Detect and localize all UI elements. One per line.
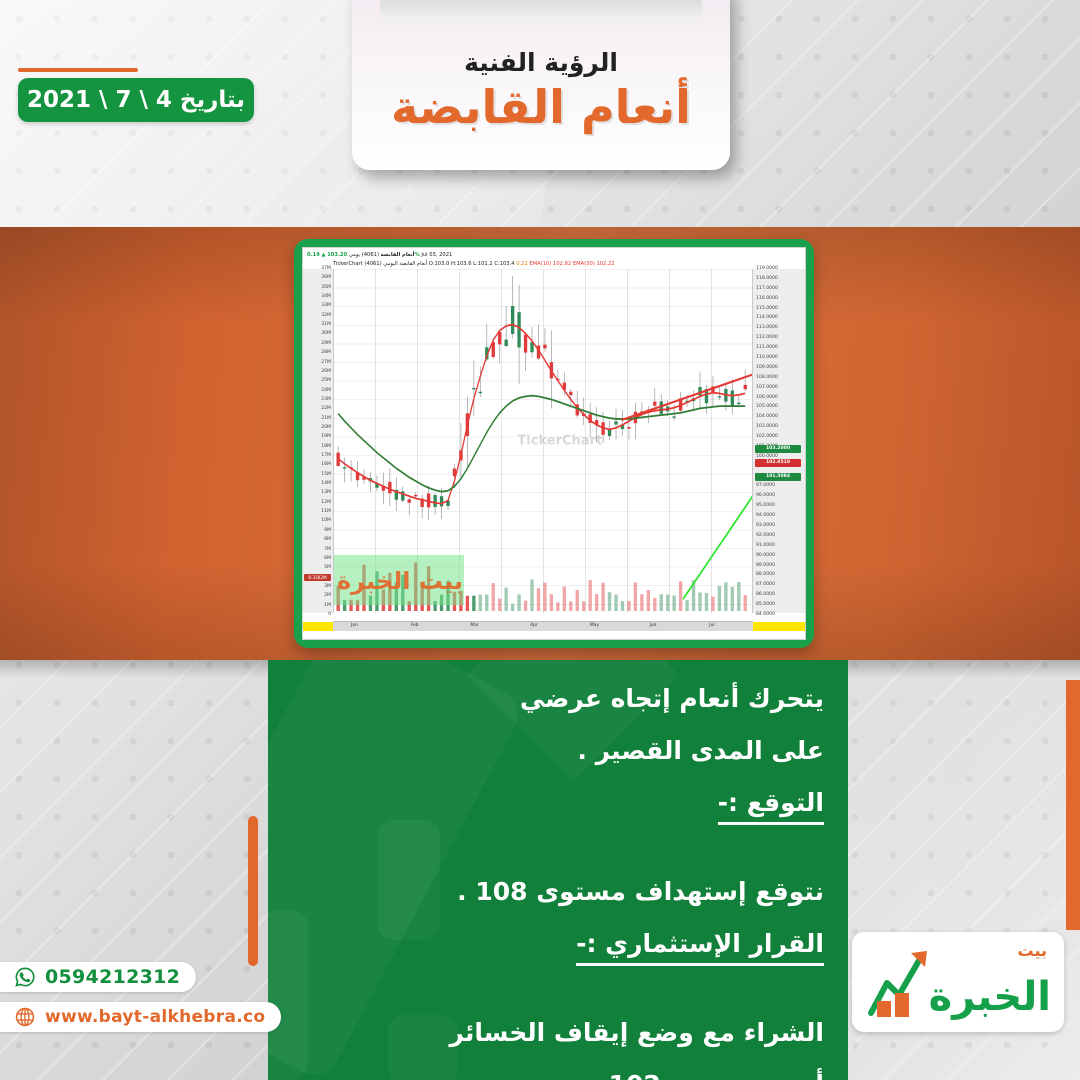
volume-tick: 7M bbox=[324, 548, 331, 553]
poster: الرؤية الفنية أنعام القابضة بتاريخ 4 \ 7… bbox=[0, 0, 1080, 1080]
chart-watermark-en: TickerChart bbox=[517, 434, 602, 449]
volume-tick: 26M bbox=[321, 370, 331, 375]
chart-header-line-1: أنعام القابضة (4061) يومي 103.20 ▲ 0.19%… bbox=[307, 251, 801, 259]
candle-body bbox=[472, 388, 475, 389]
time-tick: Feb bbox=[411, 623, 419, 628]
volume-tick: 37M bbox=[321, 267, 331, 272]
price-tick: 119.0000 bbox=[756, 267, 778, 272]
candle-body bbox=[718, 396, 721, 397]
candle-body bbox=[627, 427, 630, 429]
volume-bar bbox=[588, 580, 591, 611]
volume-bar bbox=[679, 581, 682, 611]
price-tick: 96.0000 bbox=[756, 494, 775, 499]
volume-bar bbox=[640, 594, 643, 611]
time-tick: May bbox=[590, 623, 599, 628]
volume-bar bbox=[595, 594, 598, 611]
volume-tick: 17M bbox=[321, 454, 331, 459]
volume-bar bbox=[466, 596, 469, 611]
volume-bar bbox=[498, 599, 501, 611]
volume-tick: 27M bbox=[321, 361, 331, 366]
price-tick: 105.0000 bbox=[756, 405, 778, 410]
analysis-line-wrap: على المدى القصير . bbox=[292, 738, 824, 763]
price-tick: 85.0000 bbox=[756, 603, 775, 608]
brand-logo-main-text: الخبرة bbox=[929, 977, 1051, 1017]
candle-body bbox=[653, 402, 656, 406]
price-tick: 103.0000 bbox=[756, 425, 778, 430]
chart-symbol-ar: أنعام القابضة bbox=[381, 252, 415, 258]
price-tick: 114.0000 bbox=[756, 316, 778, 321]
date-badge: بتاريخ 4 \ 7 \ 2021 bbox=[18, 78, 254, 122]
price-tick: 92.0000 bbox=[756, 534, 775, 539]
price-tick: 91.0000 bbox=[756, 544, 775, 549]
volume-tick: 25M bbox=[321, 379, 331, 384]
analysis-line-wrap: التوقع :- bbox=[292, 790, 824, 852]
volume-bar bbox=[563, 586, 566, 611]
website-pill[interactable]: www.bayt-alkhebra.co bbox=[0, 1002, 281, 1032]
candle-body bbox=[504, 340, 507, 346]
volume-tick: 18M bbox=[321, 445, 331, 450]
candle-body bbox=[343, 467, 346, 468]
candle-body bbox=[517, 312, 520, 347]
volume-tick: 23M bbox=[321, 398, 331, 403]
price-tick: 118.0000 bbox=[756, 277, 778, 282]
analysis-line-wrap: نتوقع إستهداف مستوى 108 . bbox=[292, 879, 824, 904]
time-tick: Jun bbox=[650, 623, 657, 628]
volume-value-tag: 8.3382M bbox=[304, 574, 331, 581]
candle-body bbox=[433, 495, 436, 507]
volume-tick: 10M bbox=[321, 519, 331, 524]
volume-tick: 28M bbox=[321, 351, 331, 356]
price-tick: 107.0000 bbox=[756, 386, 778, 391]
volume-tick: 8M bbox=[324, 538, 331, 543]
volume-bar bbox=[698, 592, 701, 611]
ema10-line bbox=[338, 324, 745, 503]
price-tick: 117.0000 bbox=[756, 287, 778, 292]
analysis-panel: يتحرك أنعام إتجاه عرضيعلى المدى القصير .… bbox=[268, 660, 848, 1080]
candle-body bbox=[388, 482, 391, 494]
volume-bar bbox=[705, 593, 708, 611]
price-tick: 110.0000 bbox=[756, 356, 778, 361]
volume-bar bbox=[672, 596, 675, 611]
chart-watermark-ar: بيت الخبرة bbox=[337, 559, 463, 603]
volume-bar bbox=[744, 595, 747, 611]
volume-bar bbox=[621, 601, 624, 611]
volume-tick: 15M bbox=[321, 473, 331, 478]
volume-bar bbox=[517, 594, 520, 611]
price-tick: 93.0000 bbox=[756, 524, 775, 529]
volume-bar bbox=[724, 582, 727, 611]
chart-series-code: (4061) bbox=[364, 261, 381, 267]
analysis-text-block: يتحرك أنعام إتجاه عرضيعلى المدى القصير .… bbox=[292, 686, 824, 1080]
analysis-line-wrap: القرار الإستثماري :- bbox=[292, 931, 824, 993]
chart-last-price: 103.20 bbox=[327, 252, 347, 258]
candle-body bbox=[543, 345, 546, 349]
price-tick: 112.0000 bbox=[756, 336, 778, 341]
volume-tick: 14M bbox=[321, 482, 331, 487]
chart-inner: أنعام القابضة (4061) يومي 103.20 ▲ 0.19%… bbox=[302, 247, 806, 640]
time-tick: Jan bbox=[351, 623, 358, 628]
whatsapp-icon bbox=[14, 966, 36, 988]
price-tag: 101.5084 bbox=[755, 473, 801, 481]
analysis-line: يتحرك أنعام إتجاه عرضي bbox=[292, 686, 824, 711]
support-trendline bbox=[683, 496, 753, 599]
brand-logo-small-text: بيت bbox=[1018, 943, 1047, 959]
volume-tick: 0 bbox=[328, 613, 331, 618]
whatsapp-pill[interactable]: 0594212312 bbox=[0, 962, 196, 992]
volume-tick: 19M bbox=[321, 435, 331, 440]
volume-tick: 21M bbox=[321, 417, 331, 422]
volume-bar bbox=[524, 601, 527, 611]
volume-bar bbox=[576, 590, 579, 611]
price-tick: 94.0000 bbox=[756, 514, 775, 519]
price-tick: 95.0000 bbox=[756, 504, 775, 509]
price-tick: 113.0000 bbox=[756, 326, 778, 331]
volume-tick: 2M bbox=[324, 594, 331, 599]
price-tick: 115.0000 bbox=[756, 307, 778, 312]
volume-bar bbox=[711, 597, 714, 611]
analysis-line: على المدى القصير . bbox=[292, 738, 824, 763]
axis-corner-left bbox=[303, 622, 333, 631]
candle-body bbox=[498, 332, 501, 345]
volume-tick: 29M bbox=[321, 342, 331, 347]
title-card: الرؤية الفنية أنعام القابضة bbox=[352, 0, 730, 170]
volume-axis: 37M36M35M34M33M32M31M30M29M28M27M26M25M2… bbox=[303, 269, 334, 613]
volume-bar bbox=[731, 587, 734, 611]
chart-symbol-code: (4061) bbox=[362, 252, 379, 258]
candle-body bbox=[511, 306, 514, 334]
analysis-line-wrap: أدنى مستوى 102 . bbox=[292, 1072, 824, 1080]
analysis-line: التوقع :- bbox=[718, 790, 824, 825]
chart-timeframe: يومي bbox=[349, 252, 360, 258]
analysis-line: أدنى مستوى 102 . bbox=[292, 1072, 824, 1080]
volume-bar bbox=[647, 590, 650, 611]
volume-bar bbox=[492, 583, 495, 611]
volume-bar bbox=[537, 588, 540, 611]
price-tick: 106.0000 bbox=[756, 396, 778, 401]
volume-tick: 34M bbox=[321, 295, 331, 300]
candle-body bbox=[614, 421, 617, 424]
price-tick: 89.0000 bbox=[756, 564, 775, 569]
price-axis: 119.0000118.0000117.0000116.0000115.0000… bbox=[752, 269, 805, 613]
chart-change-arrow-icon: ▲ bbox=[321, 252, 325, 258]
volume-bar bbox=[627, 601, 630, 611]
price-tick: 108.0000 bbox=[756, 376, 778, 381]
globe-icon bbox=[14, 1006, 36, 1028]
volume-tick: 33M bbox=[321, 304, 331, 309]
volume-tick: 20M bbox=[321, 426, 331, 431]
phone-number: 0594212312 bbox=[45, 966, 180, 988]
volume-bar bbox=[479, 595, 482, 611]
report-title: أنعام القابضة bbox=[352, 80, 730, 134]
candle-body bbox=[744, 385, 747, 389]
axis-corner-right bbox=[753, 622, 805, 631]
volume-tick: 6M bbox=[324, 557, 331, 562]
price-tick: 88.0000 bbox=[756, 573, 775, 578]
volume-bar bbox=[543, 583, 546, 611]
chart-header-line-2: TickerChart أنعام القابضة اليومي (4061) … bbox=[333, 260, 801, 268]
volume-bar bbox=[608, 592, 611, 611]
price-tick: 97.0000 bbox=[756, 484, 775, 489]
volume-bar bbox=[660, 594, 663, 611]
candle-body bbox=[479, 392, 482, 393]
volume-tick: 32M bbox=[321, 314, 331, 319]
volume-tick: 1M bbox=[324, 604, 331, 609]
price-tick: 116.0000 bbox=[756, 297, 778, 302]
volume-bar bbox=[485, 595, 488, 612]
volume-bar bbox=[472, 596, 475, 611]
volume-bar bbox=[504, 588, 507, 611]
analysis-line-wrap: يتحرك أنعام إتجاه عرضي bbox=[292, 686, 824, 711]
candle-body bbox=[731, 391, 734, 406]
chart-ohlc-high: H:103.6 bbox=[451, 261, 472, 267]
report-subtitle: الرؤية الفنية bbox=[352, 48, 730, 77]
time-axis: JanFebMarAprMayJunJul bbox=[333, 621, 753, 631]
candle-body bbox=[414, 495, 417, 496]
chart-frame: أنعام القابضة (4061) يومي 103.20 ▲ 0.19%… bbox=[294, 239, 814, 648]
price-tick: 111.0000 bbox=[756, 346, 778, 351]
candle-body bbox=[524, 334, 527, 352]
volume-tick: 11M bbox=[321, 510, 331, 515]
candle-body bbox=[440, 496, 443, 506]
volume-bar bbox=[666, 595, 669, 611]
volume-tick: 36M bbox=[321, 276, 331, 281]
price-tick: 86.0000 bbox=[756, 593, 775, 598]
volume-tick: 13M bbox=[321, 491, 331, 496]
time-tick: Mar bbox=[470, 623, 478, 628]
analysis-line: نتوقع إستهداف مستوى 108 . bbox=[292, 879, 824, 904]
volume-tick: 12M bbox=[321, 501, 331, 506]
chart-ohlc-close: C:103.4 bbox=[494, 261, 514, 267]
volume-tick: 35M bbox=[321, 286, 331, 291]
website-url: www.bayt-alkhebra.co bbox=[45, 1007, 265, 1027]
analysis-line: الشراء مع وضع إيقاف الخسائر bbox=[292, 1020, 824, 1045]
time-tick: Jul bbox=[709, 623, 714, 628]
price-tick: 102.0000 bbox=[756, 435, 778, 440]
volume-tick: 30M bbox=[321, 332, 331, 337]
price-tag: 102.8519 bbox=[755, 459, 801, 467]
chart-date: Jul 03, 2021 bbox=[421, 252, 452, 258]
chart-ohlc-open: O:103.0 bbox=[429, 261, 450, 267]
brand-logo: بيت الخبرة bbox=[863, 941, 1053, 1023]
accent-bar-left bbox=[248, 816, 258, 966]
price-tick: 90.0000 bbox=[756, 554, 775, 559]
date-rule bbox=[18, 68, 138, 72]
price-tick: 109.0000 bbox=[756, 366, 778, 371]
volume-bar bbox=[685, 600, 688, 611]
analysis-line: القرار الإستثماري :- bbox=[576, 931, 824, 966]
volume-bar bbox=[556, 602, 559, 611]
volume-tick: 24M bbox=[321, 389, 331, 394]
price-tag: 103.2000 bbox=[755, 445, 801, 453]
candle-body bbox=[737, 403, 740, 404]
volume-bar bbox=[530, 579, 533, 611]
candle-body bbox=[569, 392, 572, 395]
volume-bar bbox=[614, 595, 617, 611]
volume-tick: 22M bbox=[321, 407, 331, 412]
volume-bar bbox=[737, 582, 740, 611]
chart-ohlc-low: L:101.2 bbox=[473, 261, 493, 267]
title-card-slot bbox=[380, 0, 702, 20]
volume-bar bbox=[653, 598, 656, 611]
chart-ema30-label: EMA(30) 102.22 bbox=[573, 261, 615, 267]
volume-tick: 31M bbox=[321, 323, 331, 328]
volume-tick: 16M bbox=[321, 463, 331, 468]
analysis-line-wrap: الشراء مع وضع إيقاف الخسائر bbox=[292, 1020, 824, 1045]
volume-bar bbox=[718, 586, 721, 611]
volume-bar bbox=[550, 594, 553, 611]
price-tick: 84.0000 bbox=[756, 613, 775, 618]
volume-tick: 5M bbox=[324, 566, 331, 571]
price-tick: 104.0000 bbox=[756, 415, 778, 420]
volume-tick: 3M bbox=[324, 585, 331, 590]
volume-bar bbox=[569, 601, 572, 611]
volume-bar bbox=[582, 601, 585, 611]
chart-series-ar: أنعام القابضة اليومي bbox=[383, 261, 427, 267]
candle-body bbox=[672, 416, 675, 417]
contact-block: 0594212312 www.bayt-alkhebra.co bbox=[0, 962, 281, 1042]
chart-change-value: 0.22 bbox=[516, 261, 528, 267]
volume-bar bbox=[601, 583, 604, 611]
time-tick: Apr bbox=[530, 623, 538, 628]
chart-source: TickerChart bbox=[333, 261, 363, 267]
chart-ema10-label: EMA(10) 102.82 bbox=[529, 261, 571, 267]
accent-bar-right bbox=[1066, 680, 1080, 930]
volume-tick: 9M bbox=[324, 529, 331, 534]
price-tick: 87.0000 bbox=[756, 583, 775, 588]
brand-logo-card[interactable]: بيت الخبرة bbox=[852, 932, 1064, 1032]
volume-bar bbox=[511, 604, 514, 611]
candle-body bbox=[408, 499, 411, 502]
volume-bar bbox=[634, 582, 637, 611]
